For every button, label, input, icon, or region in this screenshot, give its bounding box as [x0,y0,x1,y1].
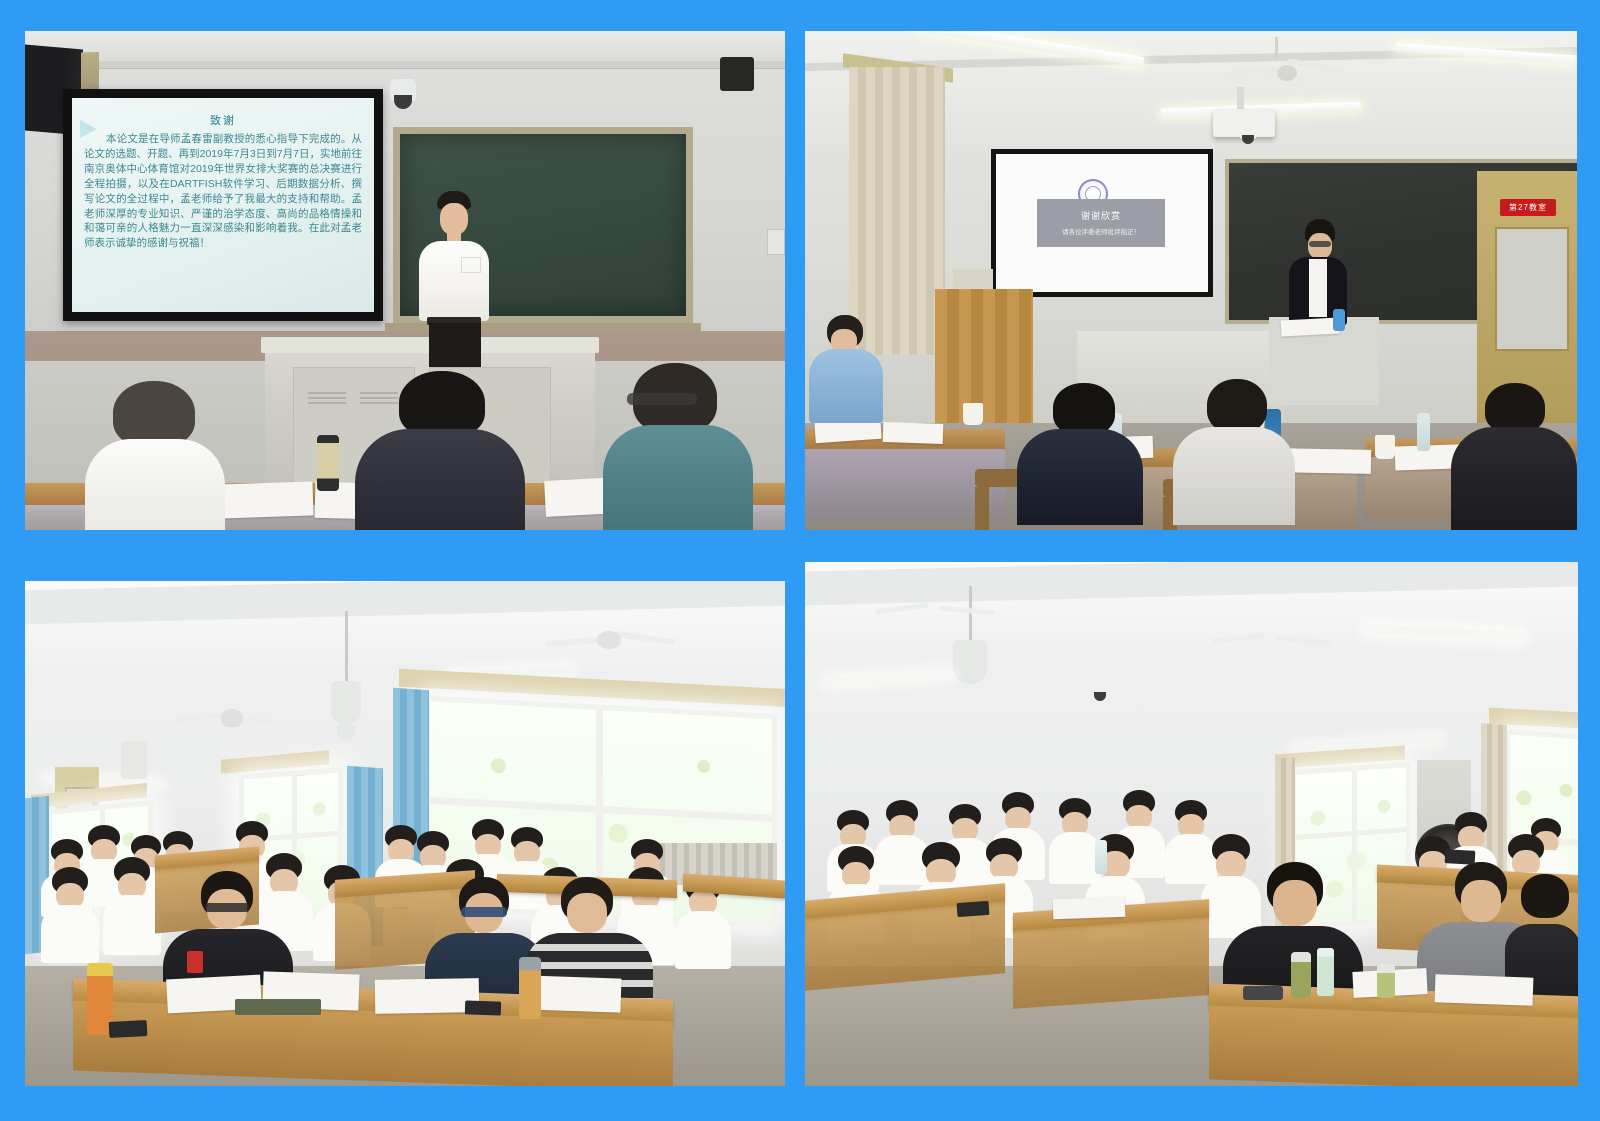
eyeglasses-icon [1243,986,1283,1000]
faculty-right-face [567,893,607,933]
classroom-audience-one [25,581,785,1086]
classroom-scene-presenter: 致谢 本论文是在导师孟春雷副教授的悉心指导下完成的。从论文的选题、开题、再到20… [25,31,785,530]
ceiling-fan-2-icon [1211,622,1331,654]
open-notebook-center [375,978,480,1014]
ceiling-fan-1-icon [175,701,293,735]
slide-body: 本论文是在导师孟春雷副教授的悉心指导下完成的。从论文的选题、开题、再到2019年… [84,132,362,251]
judge-left-head [113,381,195,447]
student-row2-2 [103,857,161,953]
tea-flask [317,435,339,491]
presenter-trousers [429,323,481,367]
tea-glass-2 [1377,964,1395,998]
notebook-cover [235,999,321,1015]
documents-2 [1435,974,1534,1005]
evaluator-center-navy [1017,383,1143,523]
faculty-center-glasses-icon [461,907,507,917]
smartphone-2 [465,1000,501,1015]
photo-top-right: 谢谢欣赏 请各位评委老师批评指正！ 第27教室 [805,31,1577,530]
slide-title: 谢谢欣赏 [1037,209,1165,222]
polo-emblem-icon [187,951,203,973]
ceiling-band [25,31,785,61]
presenter-glasses-icon [1309,241,1331,247]
books-stack [953,269,993,289]
pendant-rod-1 [345,611,348,687]
evaluator-right-head [1485,383,1545,433]
tea-glass-1 [1291,952,1311,998]
front-desk-side [1209,1005,1578,1086]
judge-center [355,371,525,530]
chair-1-leg [975,487,989,530]
classroom-scene-defense: 谢谢欣赏 请各位评委老师批评指正！ 第27教室 [805,31,1577,530]
water-bottle-2 [1095,840,1107,874]
slide-title: 致谢 [84,112,362,128]
ceiling-fan-1-icon [875,592,995,624]
presenter-dress-shirt [1309,259,1327,317]
evaluator-right [1451,383,1577,530]
faculty-left-glasses-icon [205,903,249,912]
judge-right [603,363,753,530]
dome-security-camera-icon [1239,125,1257,139]
faculty-edge-hair [1521,874,1569,918]
smartphone-1 [109,1020,148,1038]
light-switch-icon [767,229,785,255]
classroom-audience-two [805,562,1578,1086]
photo-bottom-left [25,581,785,1086]
security-camera-icon [1091,682,1109,696]
evaluator-right-shirt [1451,427,1577,530]
paper-cup-1 [963,403,983,425]
student-row2-1 [41,867,99,961]
smartphone-2 [1445,849,1476,865]
ceiling-fan-icon [1225,53,1345,93]
paper-cup-2 [1375,435,1395,459]
pendant-lamp-1 [331,681,361,725]
smartphone-1 [957,901,990,917]
projector-screen: 致谢 本论文是在导师孟春雷副教授的悉心指导下完成的。从论文的选题、开题、再到20… [72,98,374,312]
evaluator-woman [1173,379,1295,525]
blue-bottle [1333,309,1345,331]
judge-papers-left [216,481,313,518]
water-bottle-1 [1317,948,1334,996]
presenter-face [440,203,468,235]
evaluator-center-shirt [1017,429,1143,525]
dome-security-camera-icon [390,79,416,101]
presenter-shirt-pocket [461,257,481,273]
fan-downrod [1275,37,1278,59]
judge-center-shirt [355,429,525,530]
beige-curtain [849,67,945,355]
documents-3 [1053,897,1126,920]
faculty-black-face [1273,880,1317,926]
photo-top-left: 致谢 本论文是在导师孟春雷副教授的悉心指导下完成的。从论文的选题、开题、再到20… [25,31,785,530]
tea-glass [519,957,541,1019]
wall-box-icon [121,741,147,779]
photo-collage: 致谢 本论文是在导师孟春雷副教授的悉心指导下完成的。从论文的选题、开题、再到20… [0,0,1600,1121]
wall-sensor-icon [720,57,754,91]
evaluator-woman-head [1207,379,1267,433]
door-window [1495,227,1569,351]
presenter-student [411,191,495,366]
judge-center-head [399,371,485,437]
evaluator-left [809,315,883,435]
faculty-grey-face [1461,880,1501,922]
judge-right-shirt [603,425,753,530]
ceiling-fan-2-icon [545,623,675,657]
evaluator-woman-shirt [1173,427,1295,525]
presenter-shirt [419,241,489,321]
judge-left [85,381,225,530]
water-bottle-3 [1417,413,1430,451]
ceiling-rail [25,61,785,68]
evaluator-papers-2 [883,422,944,444]
evaluator-left-shirt [809,349,883,423]
slide-subtitle: 请各位评委老师批评指正！ [1037,226,1165,236]
pendant-lamp-1 [953,640,987,684]
desk-center-side [1013,917,1209,1009]
judge-left-shirt [85,439,225,530]
presenter-thesis-papers [1281,317,1340,336]
thank-you-slide-box: 谢谢欣赏 请各位评委老师批评指正！ [1037,199,1165,247]
classroom-number-sign: 第27教室 [1500,199,1556,216]
judge-right-glasses-icon [627,393,697,405]
photo-bottom-right [805,562,1578,1086]
evaluator-center-head [1053,383,1115,435]
